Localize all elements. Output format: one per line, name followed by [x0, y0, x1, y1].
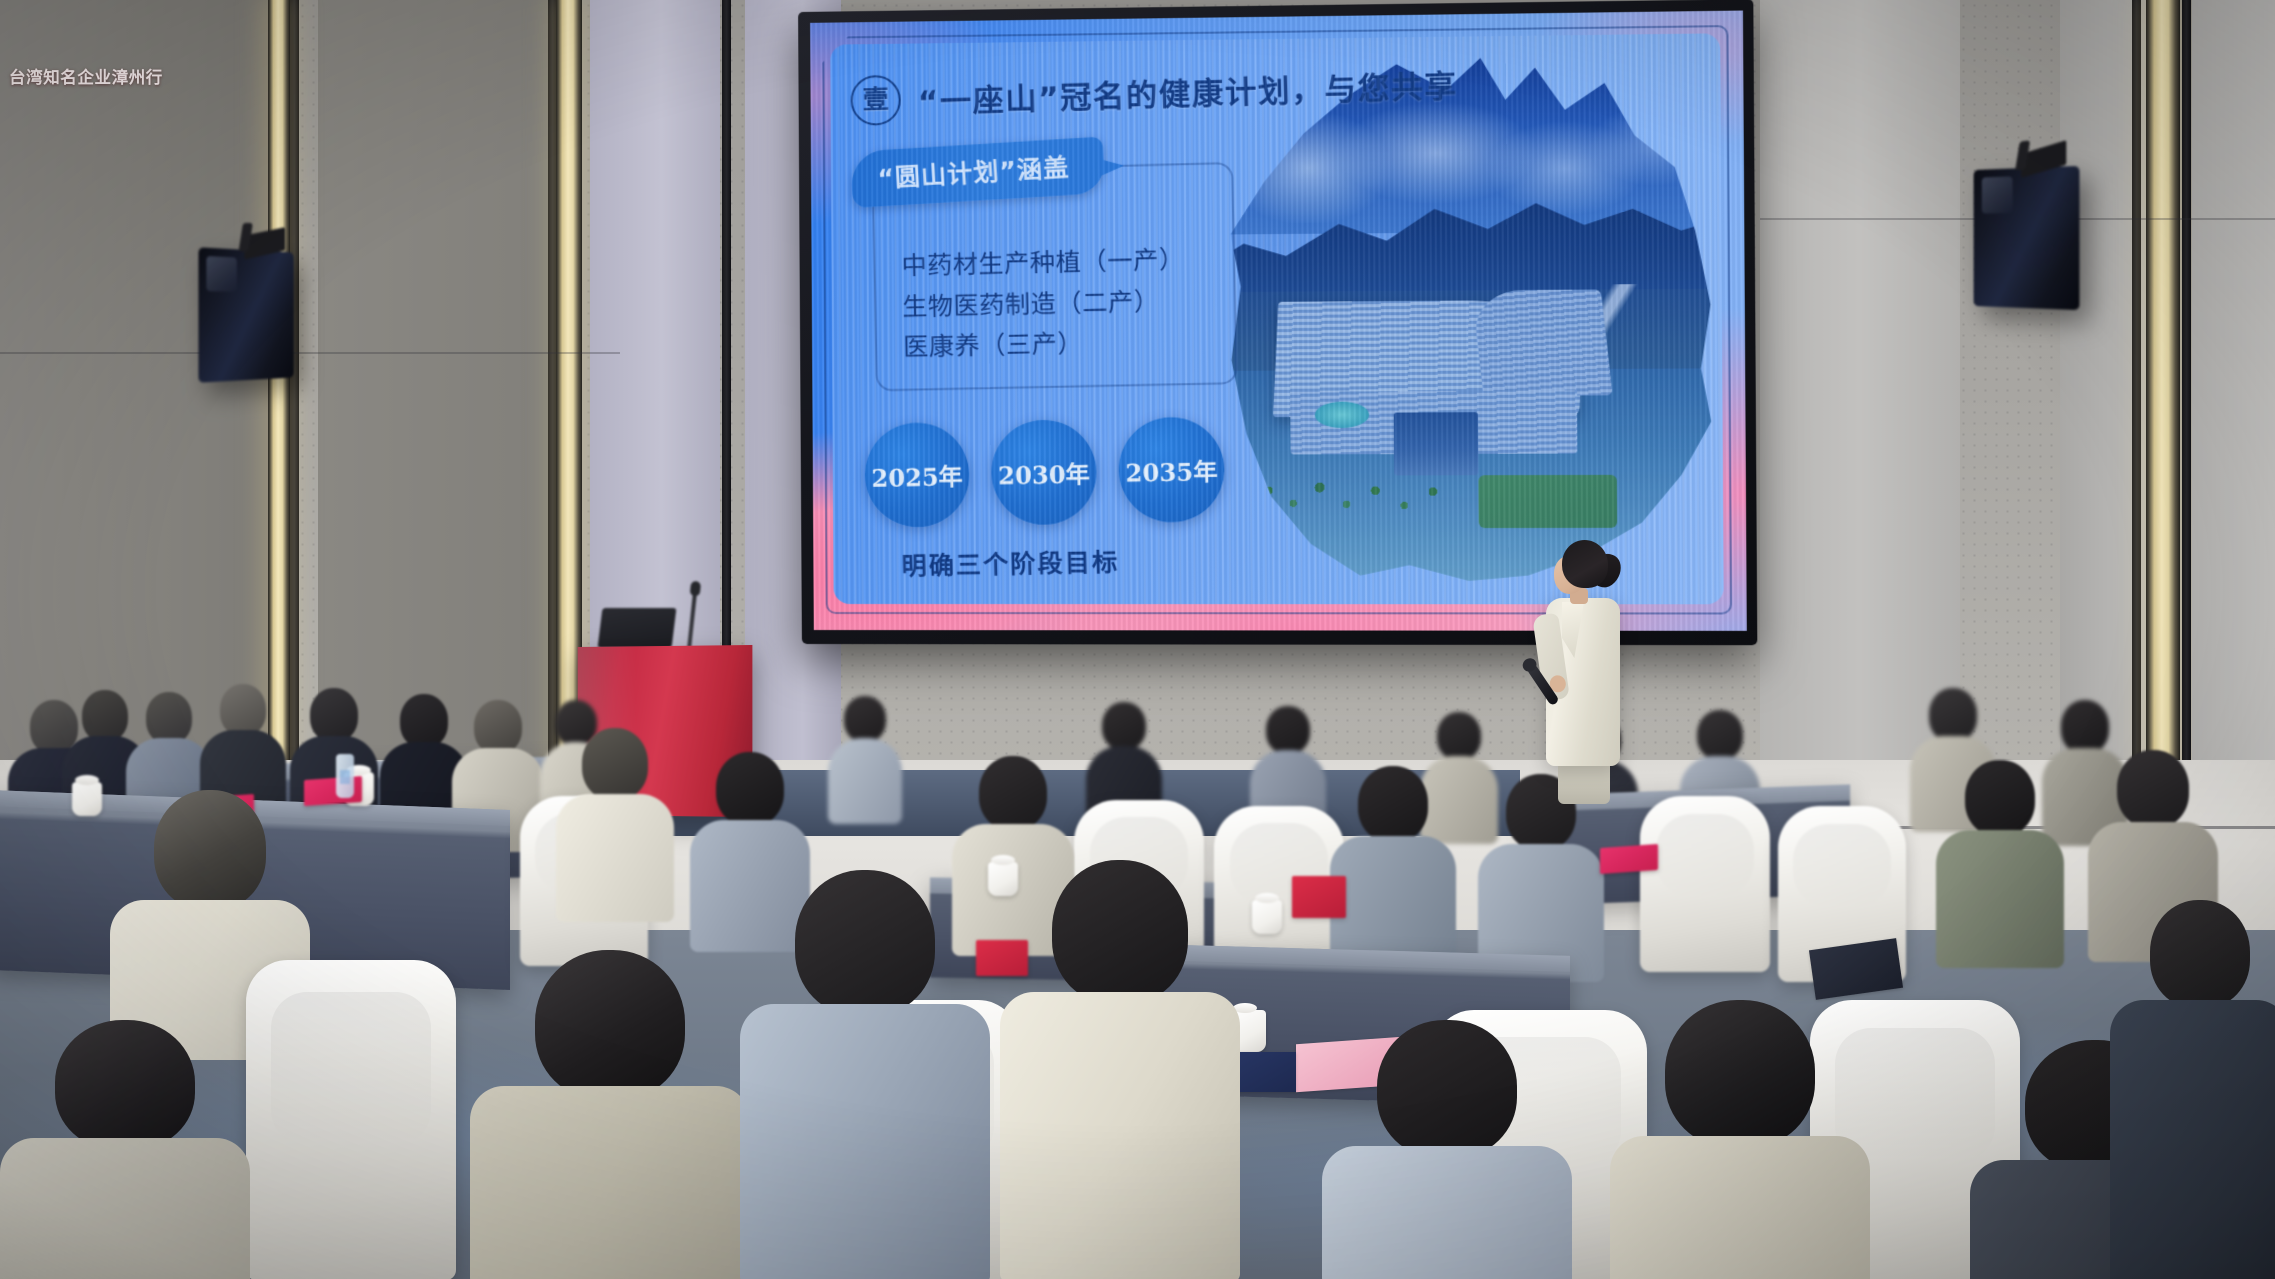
- speaker-right: [1974, 166, 2080, 310]
- speaker-cabinet: [198, 247, 293, 383]
- list-item: 医康养（三产）: [903, 322, 1187, 369]
- list-item: 中药材生产种植（一产）: [901, 240, 1185, 287]
- attendee: [2110, 900, 2275, 1279]
- milestone-2025: 2025年: [864, 422, 971, 528]
- section-number-badge: 壹: [850, 75, 901, 127]
- speaker-left: [198, 247, 293, 383]
- wall-horizontal-seam: [0, 352, 620, 354]
- banquet-chair: [246, 960, 456, 1279]
- presenter-legs: [1558, 760, 1610, 804]
- presenter-hair: [1562, 540, 1608, 588]
- tea-cup: [1252, 900, 1282, 934]
- tea-cup: [72, 782, 102, 816]
- presenter: [1532, 540, 1642, 800]
- scope-bullet-list: 中药材生产种植（一产） 生物医药制造（二产） 医康养（三产）: [901, 240, 1187, 368]
- speaker-cabinet: [1974, 166, 2080, 310]
- milestone-2030: 2030年: [990, 419, 1097, 526]
- attendee: [1000, 860, 1240, 1279]
- milestone-circles: 2025年 2030年 2035年: [864, 416, 1226, 528]
- attendee: [1330, 766, 1456, 968]
- water-bottle: [336, 754, 354, 798]
- attendee: [0, 1020, 250, 1279]
- milestone-caption: 明确三个阶段目标: [901, 543, 1120, 583]
- attendee: [740, 870, 990, 1279]
- slide-scope-card: “圆山计划”涵盖 中药材生产种植（一产） 生物医药制造（二产） 医康养（三产）: [871, 162, 1237, 392]
- attendee: [1322, 1020, 1572, 1279]
- podium-laptop: [598, 608, 677, 648]
- attendee: [470, 950, 750, 1279]
- podium-banner-text: 台湾知名企业漳州行: [9, 64, 167, 88]
- attendee: [1610, 1000, 1870, 1279]
- milestone-2035: 2035年: [1117, 416, 1225, 523]
- name-placard: [1600, 844, 1658, 874]
- attendee: [556, 728, 674, 918]
- attendee: [828, 696, 902, 820]
- red-folder: [1292, 876, 1346, 918]
- attendee: [1478, 774, 1604, 978]
- attendee: [1936, 760, 2064, 966]
- screen-surface: 壹 “一座山”冠名的健康计划，与您共享 “圆山计划”涵盖 中药材生产种植（一产）…: [810, 11, 1747, 631]
- banquet-chair: [1640, 796, 1770, 972]
- conference-hall-photo: 壹 “一座山”冠名的健康计划，与您共享 “圆山计划”涵盖 中药材生产种植（一产）…: [0, 0, 2275, 1279]
- list-item: 生物医药制造（二产）: [902, 281, 1186, 328]
